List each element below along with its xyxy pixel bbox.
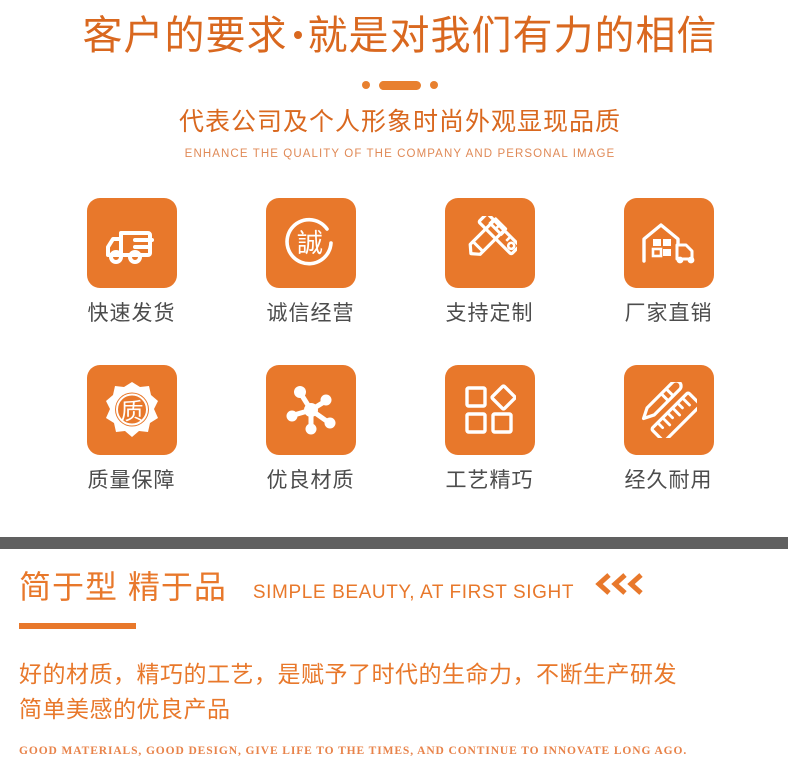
feature-label: 快速发货 <box>88 300 176 328</box>
feature-item[interactable]: 工艺精巧 <box>400 365 579 495</box>
feature-item[interactable]: 厂家直销 <box>579 198 758 328</box>
feature-icon-tile: 质 <box>87 365 177 455</box>
bottom-section: 简于型 精于品 SIMPLE BEAUTY, AT FIRST SIGHT 好的… <box>0 565 800 757</box>
bottom-description-line-1: 好的材质，精巧的工艺，是赋予了时代的生命力，不断生产研发 <box>19 657 800 692</box>
hero-section: 客户的要求就是对我们有力的相信 代表公司及个人形象时尚外观显现品质 ENHANC… <box>0 0 800 160</box>
page-subtitle: 代表公司及个人形象时尚外观显现品质 <box>0 104 800 140</box>
feature-icon-tile <box>445 198 535 288</box>
page-subtitle-english: ENHANCE THE QUALITY OF THE COMPANY AND P… <box>0 148 800 160</box>
feature-item[interactable]: 支持定制 <box>400 198 579 328</box>
feature-icon-tile <box>624 198 714 288</box>
feature-item[interactable]: 质 质量保障 <box>42 365 221 495</box>
bottom-description-english: GOOD MATERIALS, GOOD DESIGN, GIVE LIFE T… <box>19 745 800 757</box>
divider-dot-right-icon <box>430 81 438 89</box>
ruler-pen-icon <box>641 382 697 438</box>
bottom-headline-en: SIMPLE BEAUTY, AT FIRST SIGHT <box>253 571 574 615</box>
page-title-right: 就是对我们有力的相信 <box>308 14 718 58</box>
bottom-headline: 简于型 精于品 SIMPLE BEAUTY, AT FIRST SIGHT <box>19 565 800 615</box>
svg-text:质: 质 <box>120 399 143 424</box>
product-feature-banner: { "theme": { "orange": "#e8782b", "orang… <box>0 0 800 757</box>
feature-label: 质量保障 <box>88 467 176 495</box>
feature-label: 诚信经营 <box>267 300 355 328</box>
page-title-left: 客户的要求 <box>83 14 288 58</box>
divider-dot-left-icon <box>362 81 370 89</box>
bottom-headline-cn: 简于型 精于品 <box>19 565 227 609</box>
integrity-seal-icon: 誠 <box>283 215 339 271</box>
divider-bar-icon <box>379 81 421 90</box>
shapes-grid-icon <box>464 384 516 436</box>
feature-label: 厂家直销 <box>625 300 713 328</box>
feature-label: 经久耐用 <box>625 467 713 495</box>
feature-icon-tile <box>445 365 535 455</box>
factory-warehouse-truck-icon <box>639 219 699 267</box>
feature-icon-tile <box>624 365 714 455</box>
feature-label: 优良材质 <box>267 467 355 495</box>
bullet-dot-icon <box>294 31 302 39</box>
quality-badge-icon: 质 <box>102 380 162 440</box>
feature-item[interactable]: 经久耐用 <box>579 365 758 495</box>
feature-label: 支持定制 <box>446 300 534 328</box>
feature-icon-tile <box>266 365 356 455</box>
section-divider-bar <box>0 537 788 549</box>
feature-item[interactable]: 誠 诚信经营 <box>221 198 400 328</box>
feature-icon-tile <box>87 198 177 288</box>
molecule-nodes-icon <box>283 382 339 438</box>
feature-item[interactable]: 快速发货 <box>42 198 221 328</box>
dot-bar-divider <box>0 80 800 90</box>
bottom-description-line-2: 简单美感的优良产品 <box>19 692 800 727</box>
page-title: 客户的要求就是对我们有力的相信 <box>0 8 800 64</box>
ruler-pencil-icon <box>463 216 517 270</box>
feature-label: 工艺精巧 <box>446 467 534 495</box>
feature-item[interactable]: 优良材质 <box>221 365 400 495</box>
feature-grid: 快速发货 誠 诚信经营 <box>42 198 758 495</box>
delivery-truck-icon <box>104 219 160 267</box>
triple-chevron-left-icon <box>592 573 650 595</box>
svg-text:誠: 誠 <box>296 229 322 258</box>
headline-underline <box>19 623 136 629</box>
feature-icon-tile: 誠 <box>266 198 356 288</box>
